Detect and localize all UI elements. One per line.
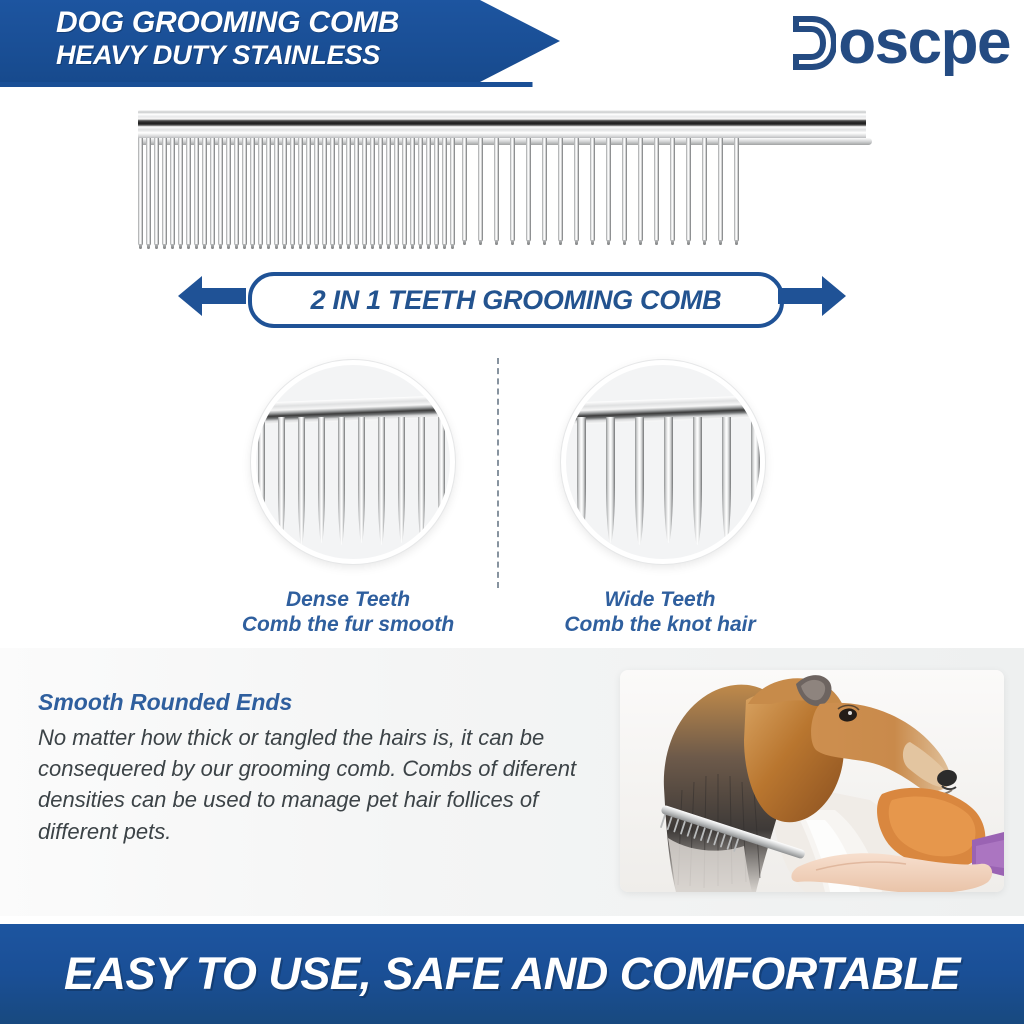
feature-section: Smooth Rounded Ends No matter how thick … — [0, 648, 1024, 916]
comb-tooth-dense — [186, 138, 191, 246]
comb-tooth-wide — [622, 138, 627, 242]
closeup-tooth — [358, 417, 365, 543]
header-underline — [0, 82, 1024, 87]
comb-tooth-wide — [734, 138, 739, 242]
closeup-tooth — [378, 417, 385, 545]
comb-tooth-dense — [434, 138, 439, 246]
comb-illustration — [0, 88, 1024, 268]
comb-tooth-dense — [154, 138, 159, 246]
comb-tooth-dense — [194, 138, 199, 246]
feature-title: Smooth Rounded Ends — [38, 688, 604, 718]
comb-tooth-dense — [354, 138, 359, 246]
two-in-one-banner: 2 IN 1 TEETH GROOMING COMB — [0, 268, 1024, 324]
comb-tooth-dense — [314, 138, 319, 246]
header-title-block: DOG GROOMING COMB HEAVY DUTY STAINLESS — [56, 8, 526, 69]
arrow-left-icon — [176, 274, 246, 318]
brand-logo: oscpe — [792, 12, 1010, 74]
comb-tooth-wide — [542, 138, 547, 242]
comb-tooth-dense — [370, 138, 375, 246]
comb-tooth-dense — [226, 138, 231, 246]
comb-tooth-wide — [574, 138, 579, 242]
comb-tooth-wide — [670, 138, 675, 242]
comb-tooth-wide — [526, 138, 531, 242]
logo-d-mark — [792, 15, 836, 71]
closeup-tooth — [722, 417, 731, 543]
closeup-tooth — [664, 417, 673, 543]
comb-tooth-dense — [274, 138, 279, 246]
comb-spine — [138, 110, 866, 140]
comb-tooth-dense — [378, 138, 383, 246]
comb-tooth-wide — [718, 138, 723, 242]
comb-tooth-dense — [242, 138, 247, 246]
callouts-section: Dense Teeth Comb the fur smooth Wide Tee… — [0, 340, 1024, 640]
feature-body: No matter how thick or tangled the hairs… — [38, 722, 604, 847]
closeup-tooth — [278, 417, 285, 543]
comb-tooth-dense — [330, 138, 335, 246]
comb-tooth-wide — [510, 138, 515, 242]
comb-tooth-wide — [702, 138, 707, 242]
wide-teeth-caption: Wide Teeth Comb the knot hair — [495, 588, 825, 638]
comb-tooth-wide — [606, 138, 611, 242]
comb-tooth-wide — [590, 138, 595, 242]
dense-teeth-caption: Dense Teeth Comb the fur smooth — [183, 588, 513, 638]
comb-tooth-dense — [418, 138, 423, 246]
product-infographic: DOG GROOMING COMB HEAVY DUTY STAINLESS o… — [0, 0, 1024, 1024]
comb-tooth-dense — [410, 138, 415, 246]
wide-teeth-title: Wide Teeth — [495, 588, 825, 613]
comb-tooth-dense — [202, 138, 207, 246]
comb-tooth-dense — [282, 138, 287, 246]
arrow-right-icon — [778, 274, 848, 318]
feature-text-block: Smooth Rounded Ends No matter how thick … — [38, 688, 604, 847]
comb-tooth-dense — [178, 138, 183, 246]
comb-tooth-dense — [250, 138, 255, 246]
two-in-one-label: 2 IN 1 TEETH GROOMING COMB — [311, 285, 722, 316]
comb-tooth-wide — [654, 138, 659, 242]
closeup-tooth — [751, 417, 760, 545]
comb-tooth-dense — [170, 138, 175, 246]
comb-tooth-dense — [146, 138, 151, 246]
comb-tooth-dense — [322, 138, 327, 246]
comb-tooth-dense — [362, 138, 367, 246]
dense-teeth-title: Dense Teeth — [183, 588, 513, 613]
comb-tooth-dense — [426, 138, 431, 246]
closeup-teeth-group-dense — [251, 417, 455, 564]
comb-tooth-wide — [558, 138, 563, 242]
comb-tooth-dense — [442, 138, 447, 246]
closeup-tooth — [298, 417, 305, 545]
footer-tagline: EASY TO USE, SAFE AND COMFORTABLE — [64, 948, 960, 1000]
closeup-tooth — [258, 417, 265, 545]
closeup-tooth — [318, 417, 325, 543]
comb-tooth-dense — [386, 138, 391, 246]
comb-tooth-dense — [402, 138, 407, 246]
comb-tooth-dense — [258, 138, 263, 246]
comb-tooth-dense — [338, 138, 343, 246]
comb-tooth-dense — [210, 138, 215, 246]
comb-tooth-dense — [234, 138, 239, 246]
comb-tooth-dense — [162, 138, 167, 246]
dense-teeth-subtitle: Comb the fur smooth — [183, 613, 513, 638]
closeup-tooth — [398, 417, 405, 543]
header-band: DOG GROOMING COMB HEAVY DUTY STAINLESS o… — [0, 0, 1024, 88]
closeup-tooth — [418, 417, 425, 545]
comb-tooth-dense — [394, 138, 399, 246]
comb-tooth-dense — [450, 138, 455, 246]
dense-teeth-closeup — [251, 360, 455, 564]
comb-tooth-dense — [218, 138, 223, 246]
comb-tooth-dense — [298, 138, 303, 246]
closeup-tooth — [635, 417, 644, 545]
footer-band: EASY TO USE, SAFE AND COMFORTABLE — [0, 924, 1024, 1024]
comb-tooth-dense — [266, 138, 271, 246]
wide-teeth-subtitle: Comb the knot hair — [495, 613, 825, 638]
two-in-one-pill: 2 IN 1 TEETH GROOMING COMB — [248, 272, 784, 328]
comb-tooth-wide — [478, 138, 483, 242]
comb-tooth-wide — [638, 138, 643, 242]
closeup-tooth — [338, 417, 345, 545]
comb-tooth-dense — [346, 138, 351, 246]
wide-teeth-closeup — [561, 360, 765, 564]
comb-tooth-dense — [290, 138, 295, 246]
closeup-tooth — [693, 417, 702, 545]
header-title-line1: DOG GROOMING COMB — [56, 8, 526, 38]
comb-teeth-group — [138, 138, 868, 253]
closeup-tooth — [577, 417, 586, 545]
comb-tooth-wide — [494, 138, 499, 242]
comb-tooth-wide — [462, 138, 467, 242]
comb-tooth-dense — [138, 138, 143, 246]
closeup-tooth — [606, 417, 615, 543]
callout-divider — [497, 358, 499, 588]
comb-tooth-dense — [306, 138, 311, 246]
grooming-photo — [620, 670, 1004, 892]
closeup-teeth-group-wide — [561, 417, 765, 564]
comb-tooth-wide — [686, 138, 691, 242]
closeup-tooth — [438, 417, 445, 543]
header-title-line2: HEAVY DUTY STAINLESS — [56, 42, 526, 69]
brand-logo-text: oscpe — [838, 15, 1010, 71]
